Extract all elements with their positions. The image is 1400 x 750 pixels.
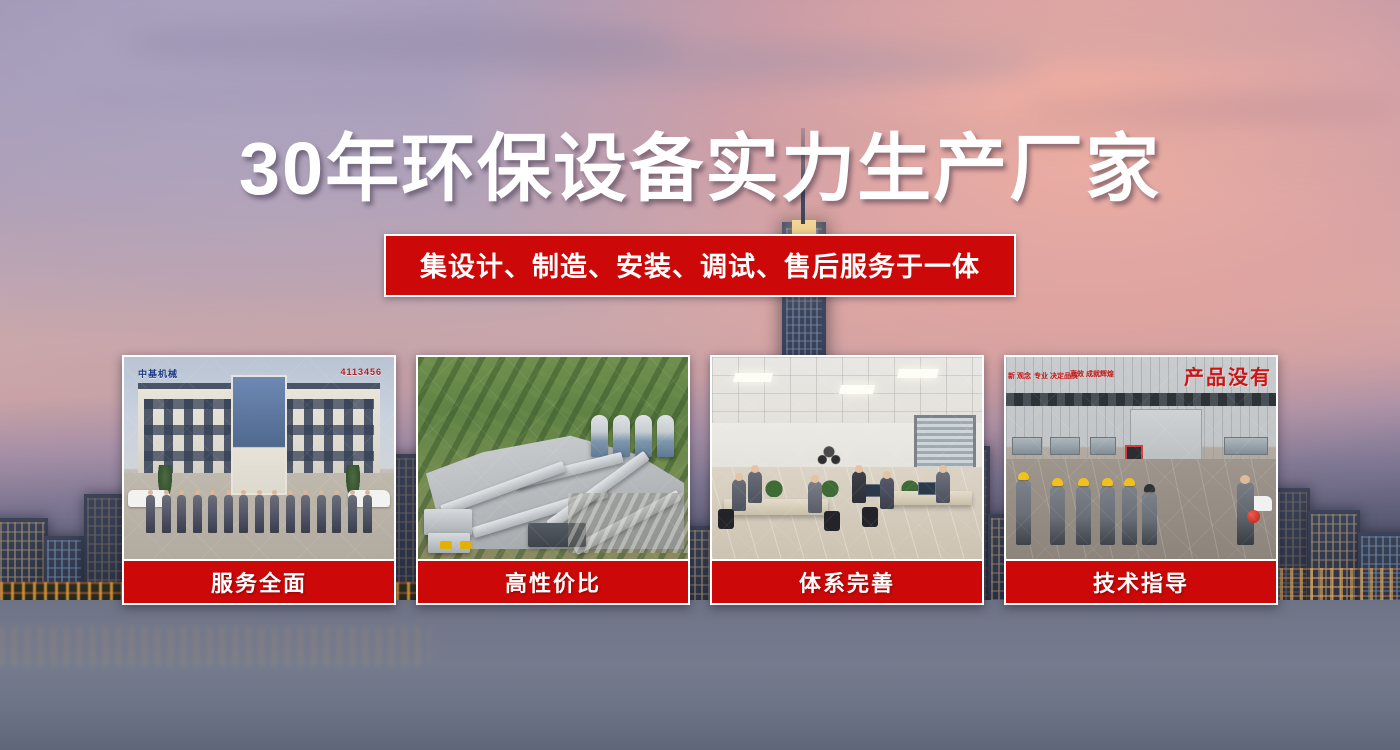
cloud-streak [60,82,480,112]
feature-card[interactable]: 产品没有 新 观念 专业 决定品质 高效 成就辉煌 技术指导 [1004,355,1278,605]
card-caption: 服务全面 [124,559,394,603]
card-caption: 高性价比 [418,559,688,603]
factory-slogan: 新 观念 [1008,373,1031,382]
feature-card[interactable]: 中基机械 4113456 服务全面 [122,355,396,605]
subtitle-banner-wrap: 集设计、制造、安装、调试、售后服务于一体 [0,234,1400,297]
building-phone-text: 4113456 [340,367,382,377]
feature-card[interactable]: 高性价比 [416,355,690,605]
subtitle-banner: 集设计、制造、安装、调试、售后服务于一体 [384,234,1016,297]
feature-card[interactable]: 体系完善 [710,355,984,605]
cloud-streak [880,10,1340,66]
card-caption: 体系完善 [712,559,982,603]
headquarters-photo: 中基机械 4113456 [124,357,394,559]
hero-banner: 30年环保设备实力生产厂家 集设计、制造、安装、调试、售后服务于一体 中基机械 … [0,0,1400,750]
river-water [0,600,1400,750]
factory-workers-photo: 产品没有 新 观念 专业 决定品质 高效 成就辉煌 [1006,357,1276,559]
building-sign-text: 中基机械 [138,367,178,380]
industrial-plant-photo [418,357,688,559]
red-helmet-icon [1247,510,1260,523]
page-title: 30年环保设备实力生产厂家 [0,132,1400,206]
factory-banner-text: 产品没有 [1184,361,1272,390]
factory-slogan: 高效 成就辉煌 [1070,371,1114,380]
feature-card-row: 中基机械 4113456 服务全面 [122,355,1278,605]
staff-lineup [146,491,372,533]
water-reflection [0,626,430,666]
card-caption: 技术指导 [1006,559,1276,603]
office-interior-photo [712,357,982,559]
